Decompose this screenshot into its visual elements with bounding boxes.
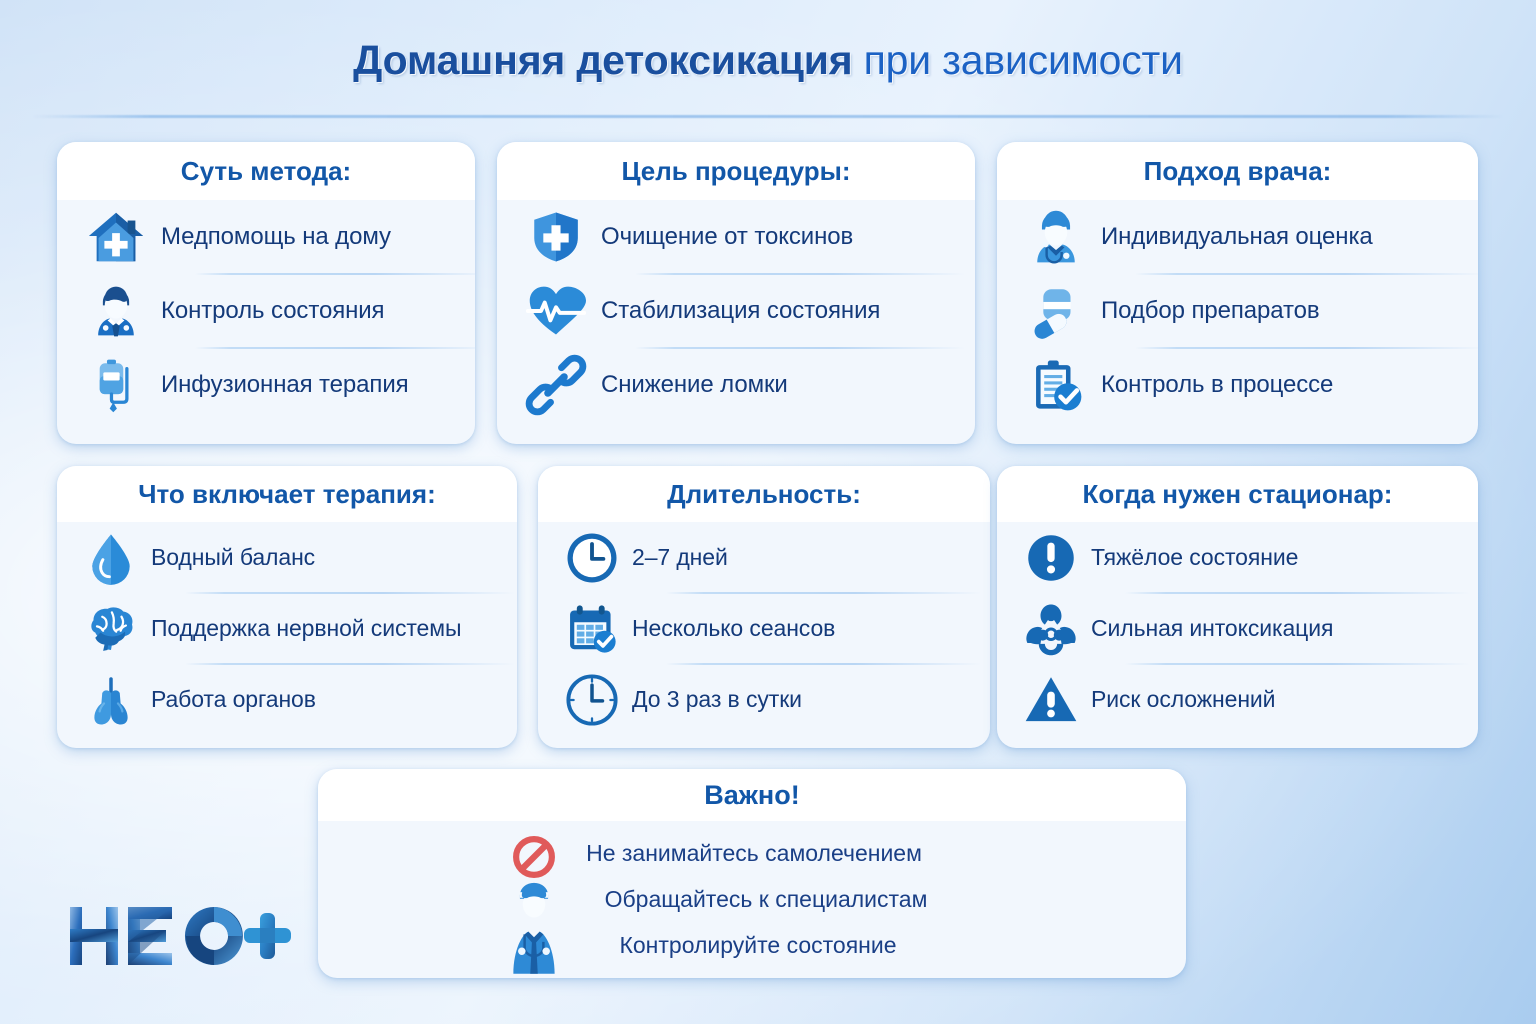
list-item: Стабилизация состояния xyxy=(523,274,975,348)
lungs-icon xyxy=(81,670,141,730)
list-item-label: Снижение ломки xyxy=(601,371,788,399)
chain-link-icon xyxy=(523,352,589,418)
list-item-label: Подбор препаратов xyxy=(1101,297,1320,325)
exclamation-circle-icon xyxy=(1021,528,1081,588)
neo-plus-logo xyxy=(68,903,288,969)
iv-drip-icon xyxy=(83,352,149,418)
list-item-label: Инфузионная терапия xyxy=(161,371,409,399)
card-cel-procedury: Цель процедуры: Очищение от токсинов Ста… xyxy=(497,142,975,444)
list-item: Контроль состояния xyxy=(83,274,475,348)
card-header: Цель процедуры: xyxy=(497,142,975,200)
card-body: Очищение от токсинов Стабилизация состоя… xyxy=(497,200,975,444)
list-item-label: Стабилизация состояния xyxy=(601,297,880,325)
card-body: Тяжёлое состояние Сильная интоксикация xyxy=(997,522,1478,748)
warning-triangle-icon xyxy=(1021,670,1081,730)
list-item: Индивидуальная оценка xyxy=(1023,200,1478,274)
heart-pulse-icon xyxy=(523,278,589,344)
brain-icon xyxy=(81,599,141,659)
list-item-label: Контроль в процессе xyxy=(1101,371,1333,399)
list-item: Обращайтесь к специалистам xyxy=(318,876,1186,922)
list-item-label: Очищение от токсинов xyxy=(601,223,853,251)
list-item: До 3 раз в сутки xyxy=(562,664,990,735)
card-header: Подход врача: xyxy=(997,142,1478,200)
list-item-label: Контролируйте состояние xyxy=(619,932,896,959)
list-item-label: Медпомощь на дому xyxy=(161,223,391,251)
list-item: Тяжёлое состояние xyxy=(1021,522,1478,593)
list-item: Инфузионная терапия xyxy=(83,348,475,422)
card-podhod-vracha: Подход врача: Индивидуальная оценка xyxy=(997,142,1478,444)
biohazard-icon xyxy=(1021,599,1081,659)
list-item-label: Не занимайтесь самолечением xyxy=(586,840,922,867)
card-header: Когда нужен стационар: xyxy=(997,466,1478,522)
page-title-light: при зависимости xyxy=(852,37,1182,83)
card-dlitelnost: Длительность: 2–7 дней xyxy=(538,466,990,748)
card-sut-metoda: Суть метода: Медпомощь на дому xyxy=(57,142,475,444)
list-item-label: Сильная интоксикация xyxy=(1091,615,1333,642)
list-item-label: Контроль состояния xyxy=(161,297,384,325)
card-header: Длительность: xyxy=(538,466,990,522)
list-item: Поддержка нервной системы xyxy=(81,593,517,664)
list-item-label: До 3 раз в сутки xyxy=(632,686,802,713)
card-body: Медпомощь на дому Контроль состояния xyxy=(57,200,475,444)
card-body: Индивидуальная оценка Подбор препаратов xyxy=(997,200,1478,444)
card-header: Что включает терапия: xyxy=(57,466,517,522)
card-chto-vklyuchaet-terapiya: Что включает терапия: Водный баланс xyxy=(57,466,517,748)
clock-outline-icon xyxy=(562,670,622,730)
list-item: Водный баланс xyxy=(81,522,517,593)
card-body: Не занимайтесь самолечением Обращайтесь … xyxy=(318,821,1186,978)
list-item: Сильная интоксикация xyxy=(1021,593,1478,664)
list-item: Контролируйте состояние xyxy=(318,922,1186,968)
list-item: Риск осложнений xyxy=(1021,664,1478,735)
list-item: Подбор препаратов xyxy=(1023,274,1478,348)
card-body: 2–7 дней Нескольк xyxy=(538,522,990,748)
list-item: Медпомощь на дому xyxy=(83,200,475,274)
list-item-label: Поддержка нервной системы xyxy=(151,615,461,642)
list-item: Несколько сеансов xyxy=(562,593,990,664)
title-divider xyxy=(32,115,1504,118)
clock-filled-icon xyxy=(562,528,622,588)
doctor-person-icon xyxy=(83,278,149,344)
page-title-bold: Домашняя детоксикация xyxy=(353,37,852,83)
card-body: Водный баланс Поддержка xyxy=(57,522,517,748)
calendar-check-icon xyxy=(562,599,622,659)
list-item: 2–7 дней xyxy=(562,522,990,593)
card-header: Важно! xyxy=(318,769,1186,821)
card-header: Суть метода: xyxy=(57,142,475,200)
list-item-label: Тяжёлое состояние xyxy=(1091,544,1298,571)
list-item-label: Несколько сеансов xyxy=(632,615,835,642)
list-item-label: Индивидуальная оценка xyxy=(1101,223,1373,251)
page-title: Домашняя детоксикация при зависимости xyxy=(0,34,1536,86)
list-item: Не занимайтесь самолечением xyxy=(318,830,1186,876)
card-vazhno: Важно! Не занимайтесь самол xyxy=(318,769,1186,978)
list-item: Работа органов xyxy=(81,664,517,735)
doctor-stethoscope-icon xyxy=(1023,204,1089,270)
shield-cross-icon xyxy=(523,204,589,270)
page-title-bar: Домашняя детоксикация при зависимости xyxy=(0,34,1536,86)
clipboard-check-icon xyxy=(1023,352,1089,418)
list-item-label: Риск осложнений xyxy=(1091,686,1275,713)
list-item: Контроль в процессе xyxy=(1023,348,1478,422)
list-item: Снижение ломки xyxy=(523,348,975,422)
list-item-label: 2–7 дней xyxy=(632,544,728,571)
water-drop-icon xyxy=(81,528,141,588)
list-item: Очищение от токсинов xyxy=(523,200,975,274)
house-medical-icon xyxy=(83,204,149,270)
pills-icon xyxy=(1023,278,1089,344)
card-kogda-nuzhen-stacionar: Когда нужен стационар: Тяжёлое состояние xyxy=(997,466,1478,748)
list-item-label: Обращайтесь к специалистам xyxy=(605,886,928,913)
list-item-label: Работа органов xyxy=(151,686,316,713)
list-item-label: Водный баланс xyxy=(151,544,315,571)
